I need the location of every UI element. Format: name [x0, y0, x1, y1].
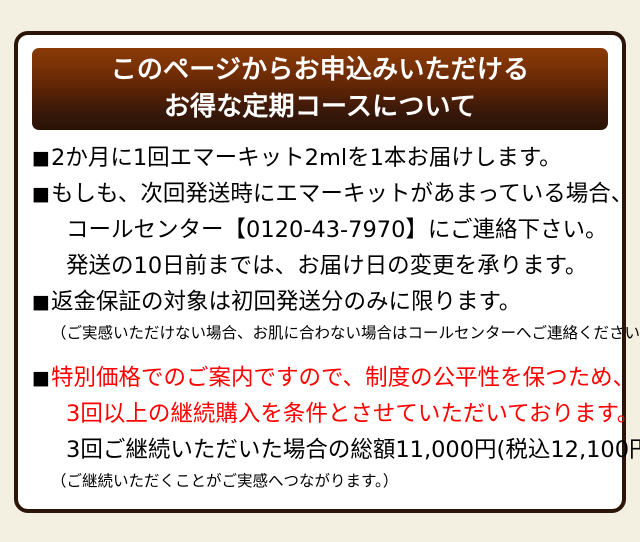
list-item-text: 特別価格でのご案内ですので、制度の公平性を保つため、: [32, 360, 635, 396]
promo-panel: このページからお申込みいただける お得な定期コースについて ■ 2か月に1回エマ…: [0, 0, 640, 542]
continuation-benefit-note: （ご継続いただくことがご実感へつながります。）: [18, 468, 622, 495]
list-item-text: 2か月に1回エマーキット2mlを1本お届けします。: [32, 140, 562, 176]
list-item-special-price-condition: ■ 特別価格でのご案内ですので、制度の公平性を保つため、: [18, 360, 622, 396]
bullet-square-icon: ■: [32, 140, 50, 176]
delivery-change-deadline-line: 発送の10日前までは、お届け日の変更を承ります。: [18, 248, 622, 284]
bullet-square-icon: ■: [32, 360, 50, 396]
header-title-line-1: このページからお申込みいただける: [111, 52, 530, 89]
minimum-purchase-condition-line: 3回以上の継続購入を条件とさせていただいております。: [18, 396, 622, 432]
list-item-leftover-stock: ■ もしも、次回発送時にエマーキットがあまっている場合、: [18, 176, 622, 212]
subscription-info-card: このページからお申込みいただける お得な定期コースについて ■ 2か月に1回エマ…: [14, 31, 626, 513]
list-item-text: 返金保証の対象は初回発送分のみに限ります。: [32, 284, 521, 320]
list-item-refund-guarantee: ■ 返金保証の対象は初回発送分のみに限ります。: [18, 284, 622, 320]
call-center-phone-line: コールセンター【0120-43-7970】にご連絡下さい。: [18, 212, 622, 248]
section-spacer: [18, 347, 622, 360]
header-title-line-2: お得な定期コースについて: [164, 89, 476, 126]
total-price-line: 3回ご継続いただいた場合の総額11,000円(税込12,100円): [18, 432, 622, 468]
list-item-text: もしも、次回発送時にエマーキットがあまっている場合、: [32, 176, 633, 212]
bullet-square-icon: ■: [32, 284, 50, 320]
bullet-square-icon: ■: [32, 176, 50, 212]
card-body: ■ 2か月に1回エマーキット2mlを1本お届けします。 ■ もしも、次回発送時に…: [18, 140, 622, 495]
refund-guarantee-note: （ご実感いただけない場合、お肌に合わない場合はコールセンターへご連絡ください。）: [18, 320, 622, 347]
card-header-band: このページからお申込みいただける お得な定期コースについて: [32, 48, 608, 130]
list-item-delivery-cycle: ■ 2か月に1回エマーキット2mlを1本お届けします。: [18, 140, 622, 176]
